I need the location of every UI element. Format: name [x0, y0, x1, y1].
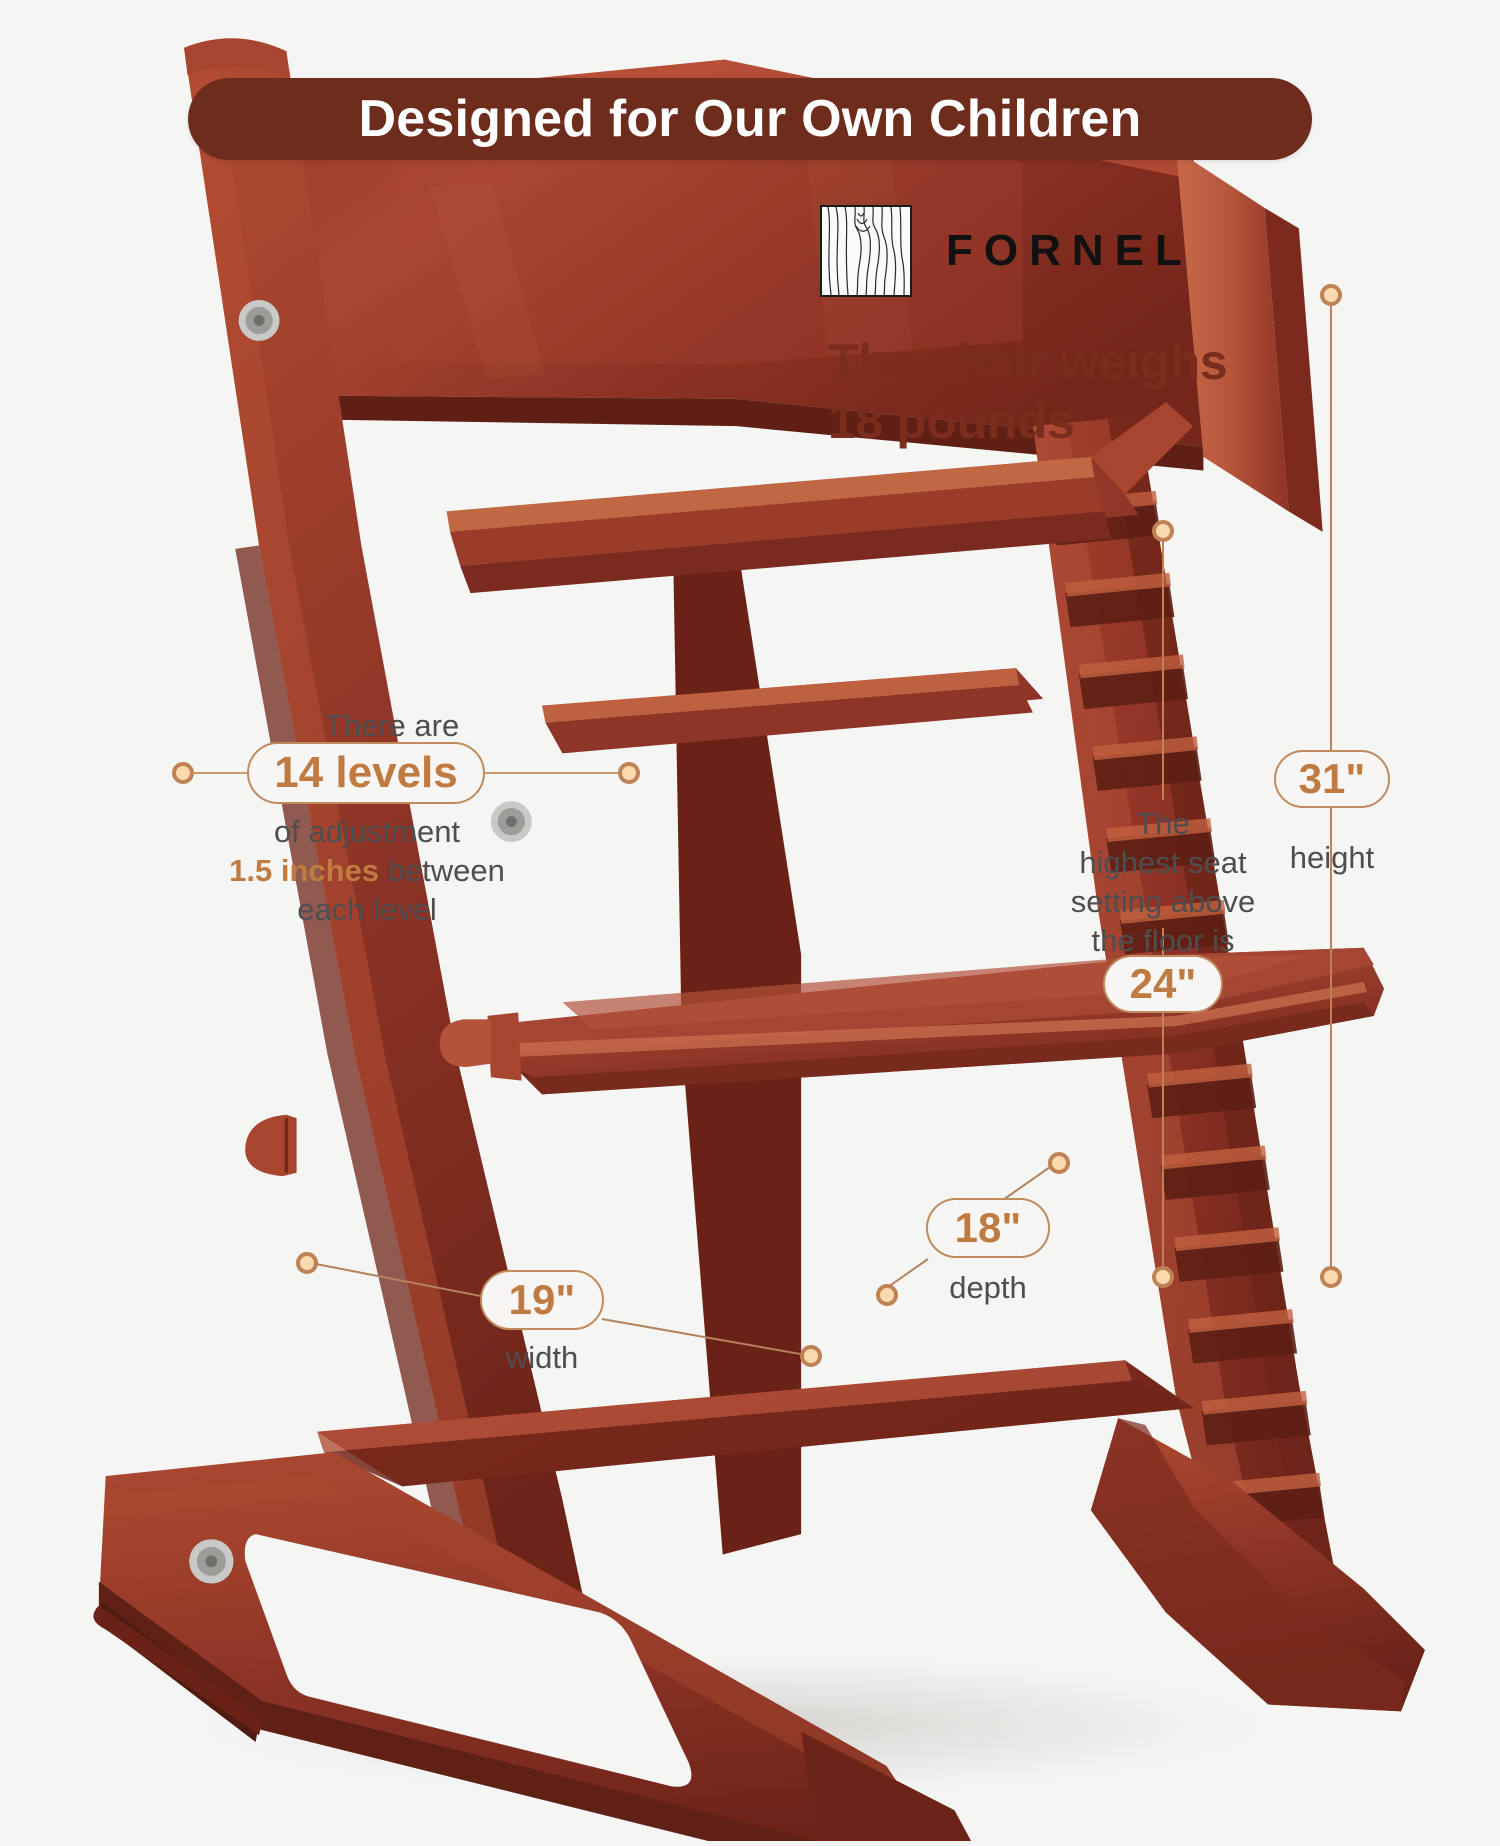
seat-height-caption-line-3: setting above	[1048, 882, 1278, 921]
depth-value-pill: 18"	[926, 1198, 1050, 1258]
levels-leader-line-right	[484, 772, 632, 774]
levels-detail-line-3: each level	[222, 890, 512, 929]
total-height-label: height	[1272, 838, 1392, 877]
levels-value: 14 levels	[274, 751, 458, 795]
total-height-dot-top	[1320, 284, 1342, 306]
wood-grain-square-icon	[820, 205, 912, 297]
page-title: Designed for Our Own Children	[359, 93, 1142, 145]
levels-value-pill: 14 levels	[247, 742, 485, 804]
levels-detail-text: of adjustment 1.5 inches between each le…	[222, 812, 512, 929]
seat-height-line-lower	[1162, 1010, 1164, 1270]
total-height-dot-bottom	[1320, 1266, 1342, 1288]
brand-lockup: FORNEL	[820, 205, 1193, 297]
seat-height-caption-line-1: The	[1048, 804, 1278, 843]
levels-lead-text: There are	[252, 706, 532, 745]
levels-detail-line-1: of adjustment	[222, 812, 512, 851]
levels-leader-dot-right	[618, 762, 640, 784]
title-banner: Designed for Our Own Children	[188, 78, 1312, 160]
weight-line-1: The chair weighs	[828, 333, 1348, 392]
width-value: 19"	[509, 1279, 576, 1321]
levels-leader-line-left	[192, 772, 250, 774]
seat-height-caption: The highest seat setting above the floor…	[1048, 804, 1278, 960]
width-dot-right	[800, 1345, 822, 1367]
depth-label: depth	[928, 1268, 1048, 1307]
depth-dot-right	[1048, 1152, 1070, 1174]
brand-name: FORNEL	[946, 226, 1193, 276]
levels-leader-dot-left	[172, 762, 194, 784]
seat-height-value-pill: 24"	[1103, 955, 1223, 1013]
total-height-value: 31"	[1299, 758, 1366, 800]
infographic-canvas: Designed for Our Own Children	[0, 0, 1500, 1500]
seat-height-line-upper	[1162, 540, 1164, 800]
width-label: width	[482, 1338, 602, 1377]
weight-headline: The chair weighs 18 pounds	[828, 333, 1348, 451]
seat-height-dot-top	[1152, 520, 1174, 542]
weight-line-2: 18 pounds	[828, 392, 1348, 451]
depth-value: 18"	[955, 1207, 1022, 1249]
total-height-value-pill: 31"	[1274, 750, 1390, 808]
levels-detail-bold: 1.5 inches	[229, 853, 379, 888]
seat-height-caption-line-2: highest seat	[1048, 843, 1278, 882]
width-dot-left	[296, 1252, 318, 1274]
seat-height-dot-bottom	[1152, 1266, 1174, 1288]
seat-height-value: 24"	[1130, 963, 1197, 1005]
levels-detail-rest: between	[379, 853, 505, 888]
depth-dot-left	[876, 1284, 898, 1306]
levels-detail-line-2: 1.5 inches between	[222, 851, 512, 890]
width-value-pill: 19"	[480, 1270, 604, 1330]
total-height-line-upper	[1330, 304, 1332, 754]
